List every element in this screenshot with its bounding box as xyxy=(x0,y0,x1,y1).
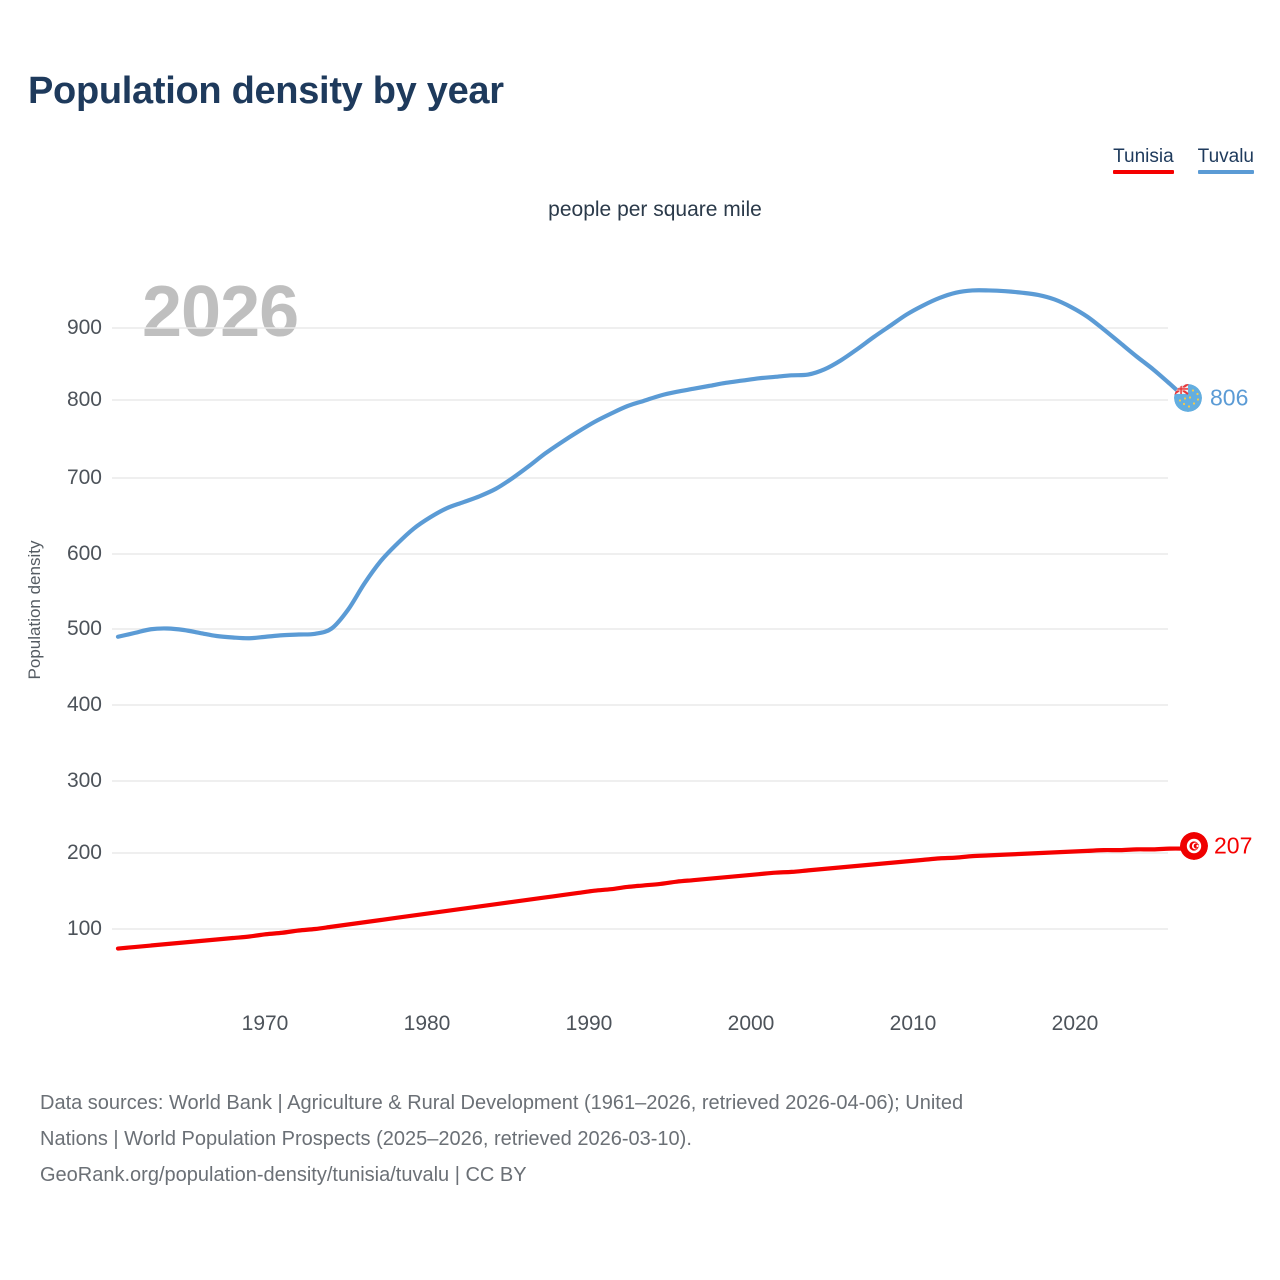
legend-label-tunisia: Tunisia xyxy=(1113,146,1174,168)
x-tick-label: 2020 xyxy=(1030,1012,1120,1036)
chart-page: Population density by year Tunisia Tuval… xyxy=(0,0,1280,1280)
legend-item-tuvalu[interactable]: Tuvalu xyxy=(1198,146,1254,174)
y-tick-label: 100 xyxy=(42,917,102,941)
footer-line-3: GeoRank.org/population-density/tunisia/t… xyxy=(40,1157,1250,1193)
chart-legend: Tunisia Tuvalu xyxy=(1113,146,1254,174)
footer-line-2: Nations | World Population Prospects (20… xyxy=(40,1121,1250,1157)
y-tick-label: 600 xyxy=(42,542,102,566)
gridlines xyxy=(112,328,1168,929)
y-tick-label: 800 xyxy=(42,388,102,412)
y-tick-label: 900 xyxy=(42,316,102,340)
y-tick-label: 400 xyxy=(42,693,102,717)
tunisia-flag-icon xyxy=(1180,832,1208,860)
x-tick-label: 1980 xyxy=(382,1012,472,1036)
page-title: Population density by year xyxy=(28,70,504,113)
legend-color-swatch-tuvalu xyxy=(1198,170,1254,174)
tunisia-endpoint-value: 207 xyxy=(1214,833,1252,860)
legend-item-tunisia[interactable]: Tunisia xyxy=(1113,146,1174,174)
footer-sources: Data sources: World Bank | Agriculture &… xyxy=(40,1085,1250,1193)
x-tick-label: 2010 xyxy=(868,1012,958,1036)
y-tick-label: 500 xyxy=(42,617,102,641)
footer-line-1: Data sources: World Bank | Agriculture &… xyxy=(40,1085,1250,1121)
legend-color-swatch-tunisia xyxy=(1113,170,1174,174)
tuvalu-flag-icon xyxy=(1174,384,1202,412)
year-watermark: 2026 xyxy=(142,276,298,348)
y-tick-label: 300 xyxy=(42,769,102,793)
y-tick-label: 200 xyxy=(42,841,102,865)
x-tick-label: 1990 xyxy=(544,1012,634,1036)
line-series-tunisia xyxy=(118,849,1186,949)
x-tick-label: 1970 xyxy=(220,1012,310,1036)
chart-subtitle: people per square mile xyxy=(0,198,1280,222)
x-tick-label: 2000 xyxy=(706,1012,796,1036)
legend-label-tuvalu: Tuvalu xyxy=(1198,146,1254,168)
tuvalu-endpoint-value: 806 xyxy=(1210,385,1248,412)
y-tick-label: 700 xyxy=(42,466,102,490)
